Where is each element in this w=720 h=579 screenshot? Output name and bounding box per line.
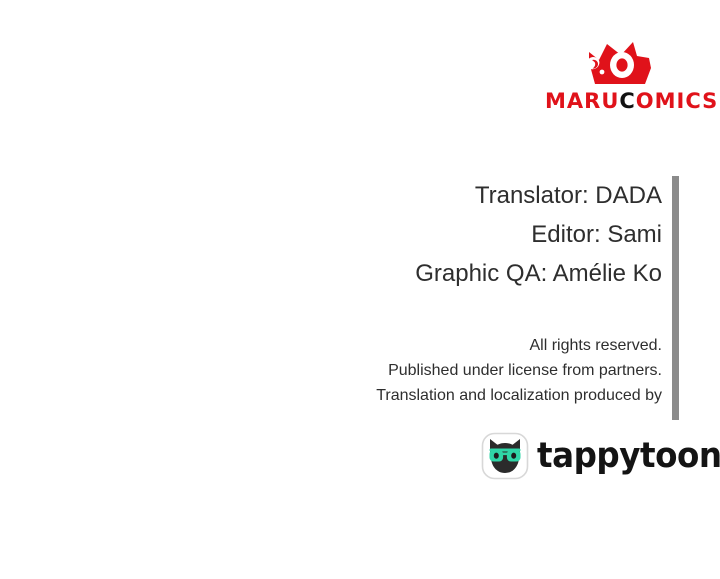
- wordmark-maru: MARU: [545, 89, 619, 113]
- credit-line-translator: Translator: DADA: [280, 176, 662, 215]
- rights-block: All rights reserved. Published under lic…: [280, 333, 662, 408]
- cat-with-glasses-icon: [481, 432, 529, 480]
- tappytoon-wordmark: tappytoon: [537, 432, 720, 480]
- publisher-logo: MARUCOMICS: [545, 38, 685, 118]
- owl-head-icon: [585, 38, 655, 86]
- rights-line-produced-by: Translation and localization produced by: [280, 383, 662, 408]
- rights-line-license: Published under license from partners.: [280, 358, 662, 383]
- wordmark-omics: OMICS: [636, 89, 719, 113]
- comic-credits-page: MARUCOMICS Translator: DADA Editor: Sami…: [0, 0, 720, 579]
- tappytoon-logo: tappytoon: [481, 430, 673, 482]
- credits-block: Translator: DADA Editor: Sami Graphic QA…: [280, 176, 662, 293]
- rights-line-reserved: All rights reserved.: [280, 333, 662, 358]
- credit-line-editor: Editor: Sami: [280, 215, 662, 254]
- credit-line-graphic-qa: Graphic QA: Amélie Ko: [280, 254, 662, 293]
- publisher-wordmark: MARUCOMICS: [545, 86, 685, 116]
- wordmark-c: C: [619, 89, 635, 113]
- vertical-divider-bar: [672, 176, 679, 420]
